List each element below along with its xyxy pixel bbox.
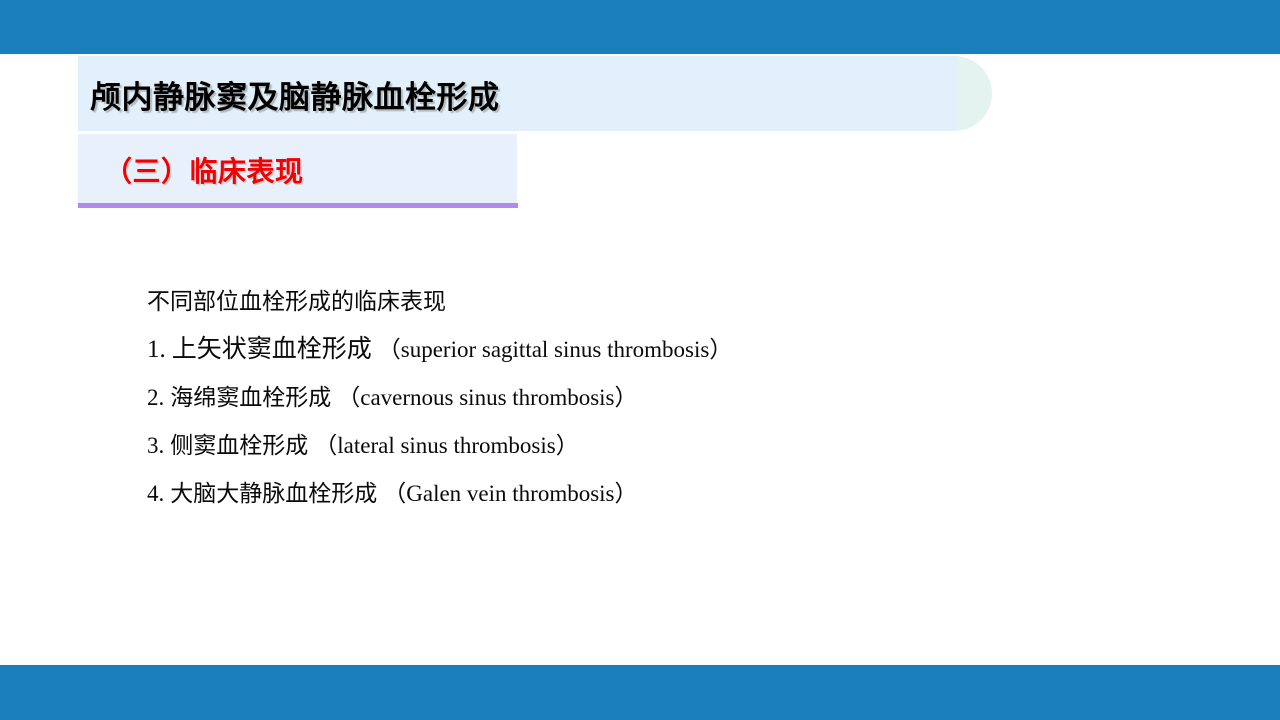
title-banner-panel: 颅内静脉窦及脑静脉血栓形成 xyxy=(78,56,957,131)
list-item: 2. 海绵窦血栓形成 （cavernous sinus thrombosis） xyxy=(147,377,1147,425)
list-item: 3. 侧窦血栓形成 （lateral sinus thrombosis） xyxy=(147,425,1147,473)
list-item-number: 2. xyxy=(147,385,164,410)
section-subtitle: （三）临床表现 xyxy=(104,150,304,190)
list-item-label-cn: 侧窦血栓形成 xyxy=(170,432,308,458)
list-item: 4. 大脑大静脉血栓形成 （Galen vein thrombosis） xyxy=(147,473,1147,521)
list-item-label-cn: 海绵窦血栓形成 xyxy=(170,384,331,410)
subtitle-panel: （三）临床表现 xyxy=(78,134,517,203)
list-item-label-en: （cavernous sinus thrombosis） xyxy=(337,385,637,410)
content-body: 不同部位血栓形成的临床表现 1. 上矢状窦血栓形成 （superior sagi… xyxy=(147,281,1147,521)
bottom-accent-bar xyxy=(0,665,1280,720)
list-item-label-en: （Galen vein thrombosis） xyxy=(383,481,637,506)
body-intro-line: 不同部位血栓形成的临床表现 xyxy=(147,281,1147,329)
title-banner: 颅内静脉窦及脑静脉血栓形成 xyxy=(78,56,992,131)
list-item-label-en: （superior sagittal sinus thrombosis） xyxy=(378,337,733,362)
list-item-number: 4. xyxy=(147,481,164,506)
page-title: 颅内静脉窦及脑静脉血栓形成 xyxy=(90,72,500,117)
list-item: 1. 上矢状窦血栓形成 （superior sagittal sinus thr… xyxy=(147,329,1147,377)
list-item-number: 3. xyxy=(147,433,164,458)
list-item-label-en: （lateral sinus thrombosis） xyxy=(314,433,578,458)
list-item-label-cn: 上矢状窦血栓形成 xyxy=(172,335,372,363)
subtitle-underline xyxy=(78,203,518,208)
top-accent-bar xyxy=(0,0,1280,54)
list-item-number: 1. xyxy=(147,336,166,363)
list-item-label-cn: 大脑大静脉血栓形成 xyxy=(170,480,377,506)
